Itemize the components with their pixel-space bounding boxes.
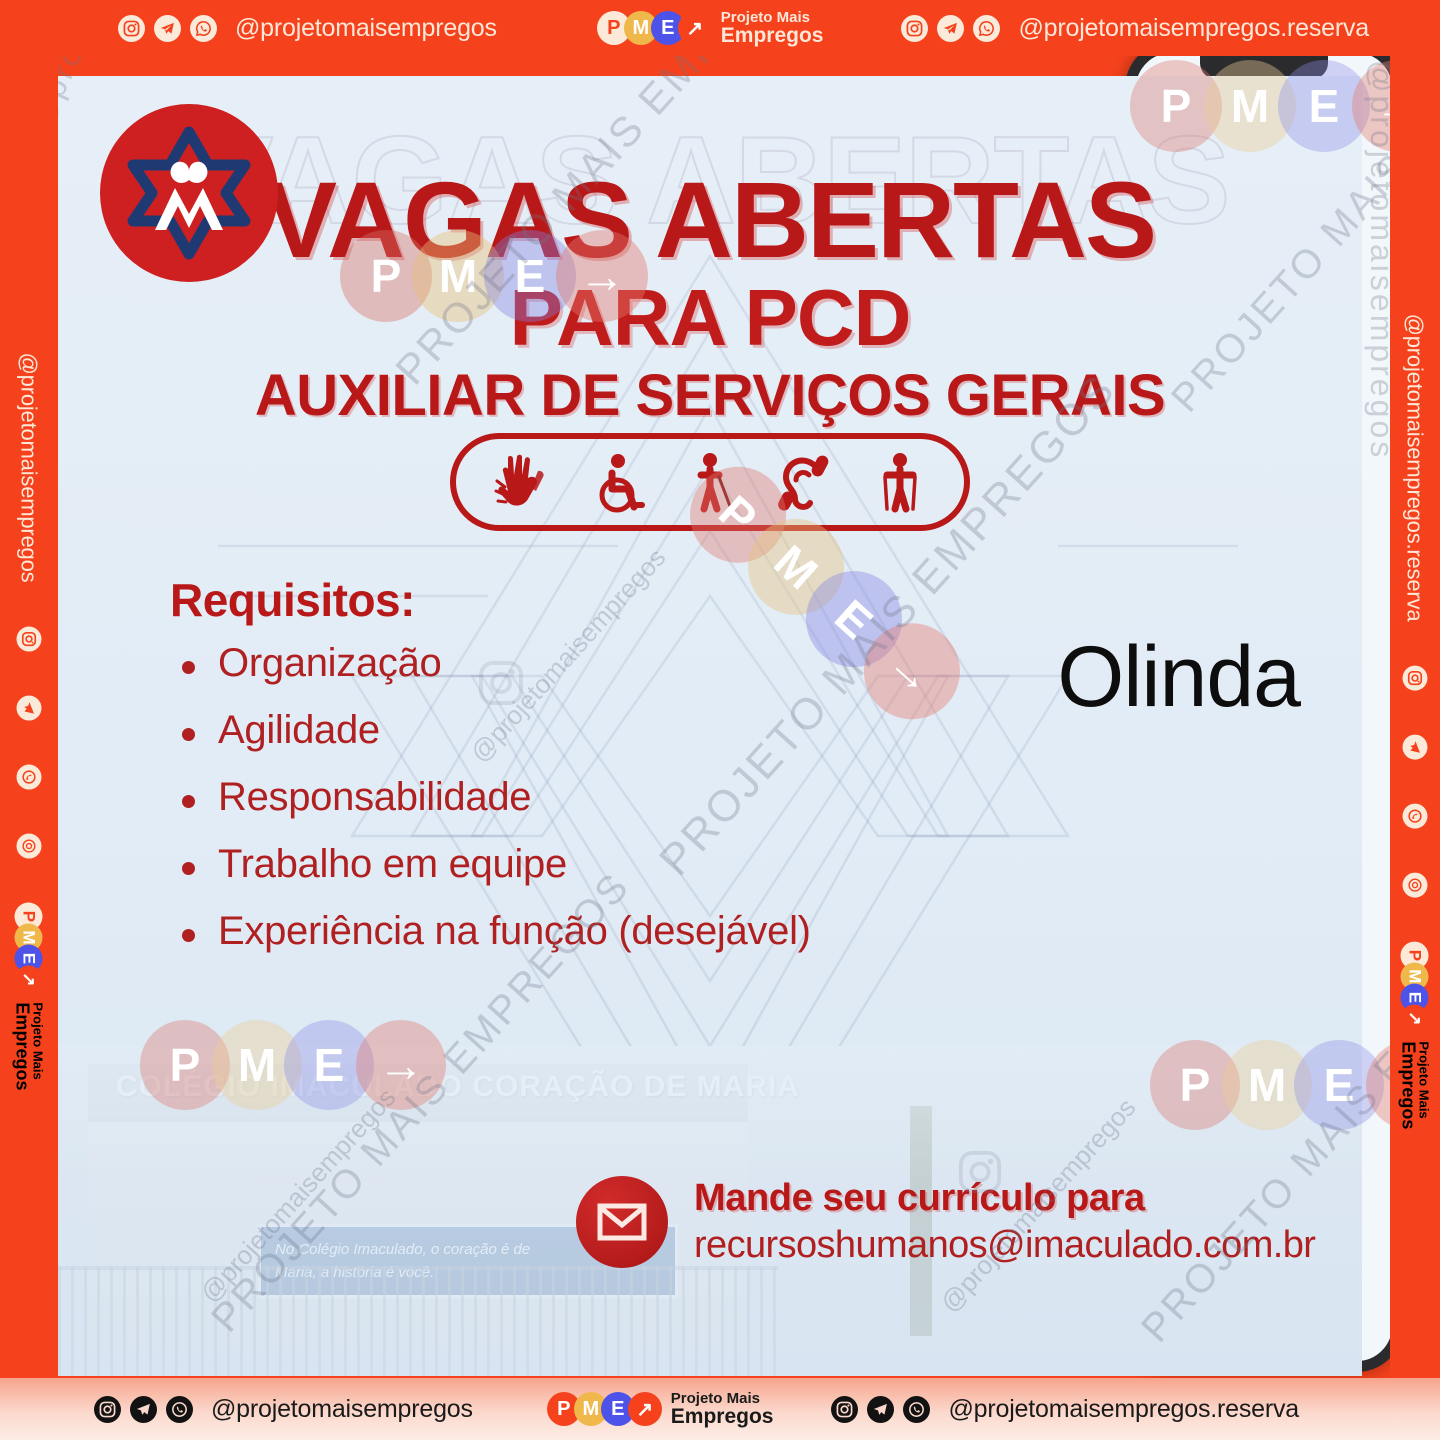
top-handle-right[interactable]: @projetomaisempregos.reserva xyxy=(901,14,1368,43)
blind-cane-icon xyxy=(688,451,740,513)
requirements-list: Organização Agilidade Responsabilidade T… xyxy=(170,641,811,954)
pme-arrow-circle: ↗ xyxy=(15,965,43,993)
right-handle-text: @projetomaisempregos.reserva xyxy=(1402,314,1428,622)
pme-circles: P M E ↗ xyxy=(547,1392,662,1426)
city-label: Olinda xyxy=(1057,628,1300,727)
school-logo-star xyxy=(114,118,264,268)
left-social-bar: @projetomaisempregos P M E ↗ Projeto Mai… xyxy=(0,56,58,1378)
pme-logo-right[interactable]: P M E ↗ Projeto Mais Empregos xyxy=(1400,941,1431,1129)
title-job-role: AUXILIAR DE SERVIÇOS GERAIS xyxy=(58,366,1362,427)
sign-language-icon xyxy=(494,451,554,513)
pme-logo-left[interactable]: P M E ↗ Projeto Mais Empregos xyxy=(14,902,45,1090)
pme-name-line2: Empregos xyxy=(1400,1041,1418,1129)
telegram-icon[interactable] xyxy=(130,1396,157,1423)
pme-name-line2: Empregos xyxy=(671,1406,774,1427)
pme-circles: P M E ↗ xyxy=(15,902,43,993)
instagram-icon[interactable] xyxy=(901,15,928,42)
title-para-pcd: PARA PCD xyxy=(58,276,1362,360)
list-item: Organização xyxy=(218,641,811,686)
school-logo xyxy=(100,104,278,282)
instagram-icon[interactable] xyxy=(831,1396,858,1423)
instagram-icon[interactable] xyxy=(118,15,145,42)
pme-wordmark: Projeto Mais Empregos xyxy=(671,1391,774,1427)
pme-arrow-circle: ↗ xyxy=(628,1392,662,1426)
pme-logo-top[interactable]: P M E ↗ Projeto Mais Empregos xyxy=(597,10,824,46)
left-bar-content: @projetomaisempregos P M E ↗ Projeto Mai… xyxy=(14,344,45,1091)
whatsapp-icon[interactable] xyxy=(166,1396,193,1423)
requirements-block: Requisitos: Organização Agilidade Respon… xyxy=(170,573,811,976)
list-item: Experiência na função (desejável) xyxy=(218,909,811,954)
job-poster-card: VAGAS ABERTAS VAGAS ABERTAS PARA PCD AUX… xyxy=(58,76,1362,1376)
requirements-title: Requisitos: xyxy=(170,573,811,627)
telegram-icon[interactable] xyxy=(1403,734,1428,759)
telegram-icon[interactable] xyxy=(937,15,964,42)
pme-arrow-circle: ↗ xyxy=(1401,1004,1429,1032)
top-handle-right-text: @projetomaisempregos.reserva xyxy=(1018,14,1368,43)
list-item: Agilidade xyxy=(218,708,811,753)
pme-name-line2: Empregos xyxy=(721,25,824,46)
pme-wordmark: Projeto Mais Empregos xyxy=(14,1002,45,1090)
whatsapp-icon[interactable] xyxy=(973,15,1000,42)
top-handle-left[interactable]: @projetomaisempregos xyxy=(118,14,497,43)
email-icon xyxy=(576,1176,668,1268)
list-item: Trabalho em equipe xyxy=(218,842,811,887)
right-bar-content: @projetomaisempregos.reserva P M E ↗ Pro… xyxy=(1400,305,1431,1130)
bottom-handle-right[interactable]: @projetomaisempregos.reserva xyxy=(831,1395,1298,1424)
pme-name-line1: Projeto Mais xyxy=(1418,1041,1431,1129)
crutches-icon xyxy=(874,451,926,513)
accessibility-icons-pill xyxy=(450,433,970,531)
deaf-ear-icon xyxy=(778,451,836,513)
bottom-handle-right-text: @projetomaisempregos.reserva xyxy=(948,1395,1298,1424)
pme-logo-bottom[interactable]: P M E ↗ Projeto Mais Empregos xyxy=(547,1391,774,1427)
top-social-bar: @projetomaisempregos P M E ↗ Projeto Mai… xyxy=(0,0,1440,56)
pme-name-line1: Projeto Mais xyxy=(721,10,824,25)
pme-name-line1: Projeto Mais xyxy=(671,1391,774,1406)
right-social-bar: @projetomaisempregos.reserva P M E ↗ Pro… xyxy=(1390,56,1440,1378)
bottom-social-bar: @projetomaisempregos P M E ↗ Projeto Mai… xyxy=(0,1378,1440,1440)
bottom-handle-left[interactable]: @projetomaisempregos xyxy=(94,1395,473,1424)
telegram-icon[interactable] xyxy=(867,1396,894,1423)
contact-email: recursoshumanos@imaculado.com.br xyxy=(694,1224,1315,1267)
pme-circles: P M E ↗ xyxy=(597,11,712,45)
whatsapp-icon[interactable] xyxy=(190,15,217,42)
instagram-icon[interactable] xyxy=(17,626,42,651)
pme-name-line1: Projeto Mais xyxy=(32,1002,45,1090)
pme-wordmark: Projeto Mais Empregos xyxy=(721,10,824,46)
email-icon[interactable] xyxy=(17,833,42,858)
pme-wordmark: Projeto Mais Empregos xyxy=(1400,1041,1431,1129)
whatsapp-icon[interactable] xyxy=(903,1396,930,1423)
list-item: Responsabilidade xyxy=(218,775,811,820)
telegram-icon[interactable] xyxy=(17,695,42,720)
envelope-glyph xyxy=(597,1203,647,1241)
wheelchair-icon xyxy=(592,451,650,513)
left-handle-text: @projetomaisempregos xyxy=(16,353,42,583)
whatsapp-icon[interactable] xyxy=(1403,803,1428,828)
instagram-icon[interactable] xyxy=(94,1396,121,1423)
contact-block: Mande seu currículo para recursoshumanos… xyxy=(576,1176,1315,1268)
pme-name-line2: Empregos xyxy=(14,1002,32,1090)
bottom-handle-left-text: @projetomaisempregos xyxy=(211,1395,473,1424)
telegram-icon[interactable] xyxy=(154,15,181,42)
pme-circles: P M E ↗ xyxy=(1401,941,1429,1032)
contact-text: Mande seu currículo para recursoshumanos… xyxy=(694,1177,1315,1267)
email-icon[interactable] xyxy=(1403,872,1428,897)
pme-arrow-circle: ↗ xyxy=(678,11,712,45)
cta-label: Mande seu currículo para xyxy=(694,1177,1315,1220)
top-handle-left-text: @projetomaisempregos xyxy=(235,14,497,43)
whatsapp-icon[interactable] xyxy=(17,764,42,789)
instagram-icon[interactable] xyxy=(1403,665,1428,690)
